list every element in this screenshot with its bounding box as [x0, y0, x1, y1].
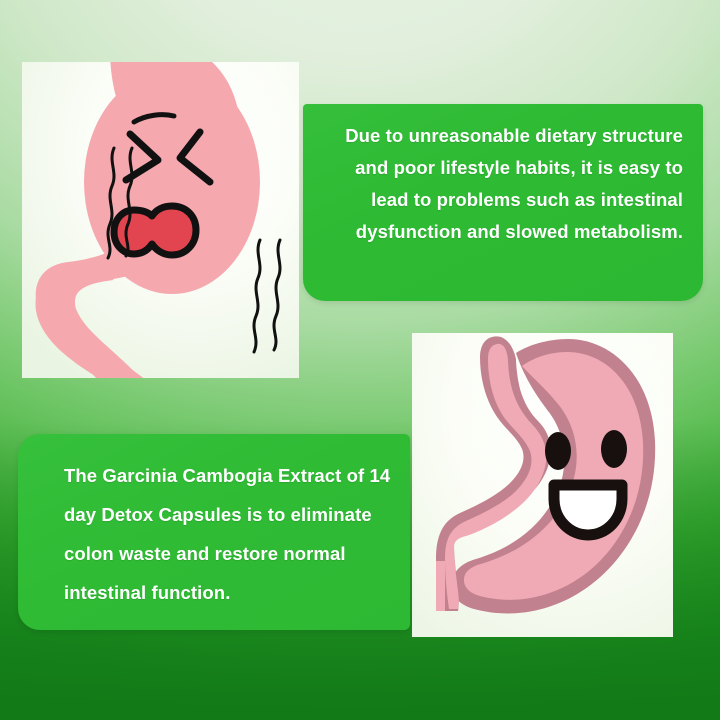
poster-canvas: Due to unreasonable dietary structure an… — [0, 0, 720, 720]
info-bubble-solution: The Garcinia Cambogia Extract of 14 day … — [18, 434, 410, 630]
happy-stomach-illustration — [412, 333, 673, 637]
left-eye — [545, 432, 571, 470]
smiling-mouth — [554, 485, 622, 535]
info-bubble-problem: Due to unreasonable dietary structure an… — [303, 104, 703, 301]
bubble-top-text: Due to unreasonable dietary structure an… — [321, 120, 683, 248]
right-eye — [601, 430, 627, 468]
sick-stomach-image-panel — [22, 62, 299, 378]
bubble-bottom-text: The Garcinia Cambogia Extract of 14 day … — [64, 456, 392, 612]
happy-stomach-image-panel — [412, 333, 673, 637]
sick-stomach-illustration — [22, 62, 299, 378]
